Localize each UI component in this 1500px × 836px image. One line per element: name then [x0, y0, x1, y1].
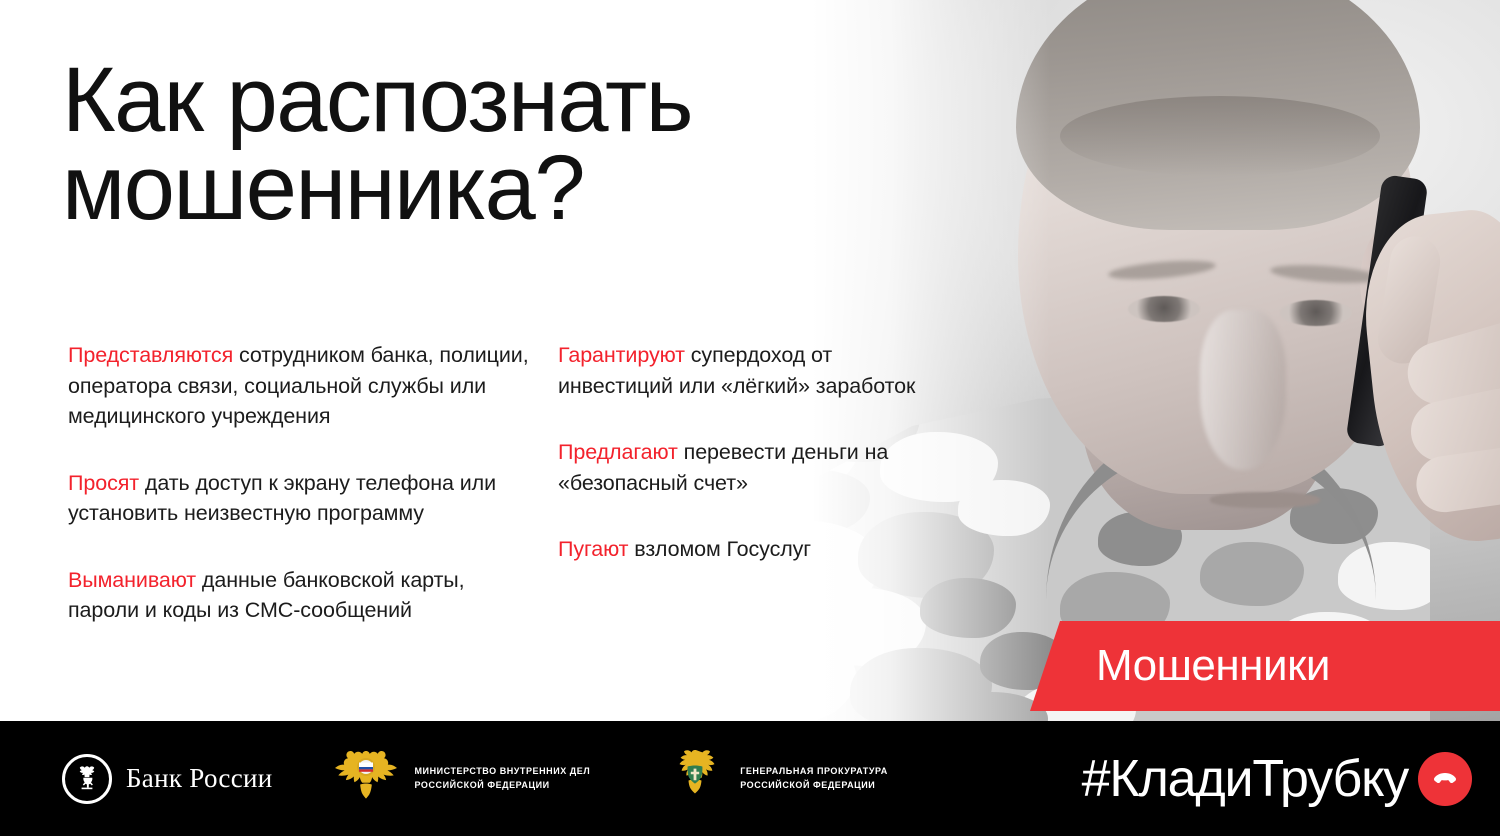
status-badge: Мошенники — [1018, 621, 1500, 711]
double-headed-eagle-circle-icon — [62, 754, 112, 804]
logo-label-mvd: МИНИСТЕРСТВО ВНУТРЕННИХ ДЕЛРОССИЙСКОЙ ФЕ… — [415, 765, 591, 792]
bullet-keyword: Представляются — [68, 343, 233, 367]
list-item: Пугают взломом Госуслуг — [558, 534, 948, 565]
logo-label-general-prosecutor: ГЕНЕРАЛЬНАЯ ПРОКУРАТУРАРОССИЙСКОЙ ФЕДЕРА… — [740, 765, 888, 792]
list-item: Гарантируют супердоход от инвестиций или… — [558, 340, 948, 401]
eye-right — [1280, 300, 1352, 326]
mouth — [1210, 492, 1320, 508]
list-item: Просят дать доступ к экрану телефона или… — [68, 468, 538, 529]
campaign-hashtag: #КладиТрубку — [1082, 752, 1472, 806]
hangup-phone-icon — [1418, 752, 1472, 806]
hashtag-label: #КладиТрубку — [1082, 753, 1408, 805]
scam-signs-left-column: Представляются сотрудником банка, полици… — [68, 340, 538, 626]
logo-bank-of-russia: Банк России — [62, 754, 273, 804]
page-title: Как распознать мошенника? — [62, 56, 962, 233]
bullet-text: взломом Госуслуг — [628, 537, 811, 561]
bullet-keyword: Гарантируют — [558, 343, 685, 367]
logo-general-prosecutor: ГЕНЕРАЛЬНАЯ ПРОКУРАТУРАРОССИЙСКОЙ ФЕДЕРА… — [662, 745, 888, 812]
banner-label: Мошенники — [1096, 644, 1330, 688]
poster-canvas: Как распознать мошенника? Представляются… — [0, 0, 1500, 836]
list-item: Предлагают перевести деньги на «безопасн… — [558, 437, 948, 498]
bullet-keyword: Выманивают — [68, 568, 196, 592]
list-item: Представляются сотрудником банка, полици… — [68, 340, 538, 432]
bullet-keyword: Пугают — [558, 537, 628, 561]
bullet-keyword: Просят — [68, 471, 139, 495]
mvd-eagle-emblem-icon — [329, 745, 403, 812]
list-item: Выманивают данные банковской карты, паро… — [68, 565, 538, 626]
footer-bar: Банк России МИНИСТЕРСТВО ВНУТРЕНН — [0, 721, 1500, 836]
prosecutor-eagle-shield-icon — [662, 745, 728, 812]
logo-label-bank-of-russia: Банк России — [126, 763, 273, 794]
logo-mvd: МИНИСТЕРСТВО ВНУТРЕННИХ ДЕЛРОССИЙСКОЙ ФЕ… — [329, 745, 591, 812]
nose — [1200, 310, 1286, 470]
bullet-keyword: Предлагают — [558, 440, 678, 464]
scam-signs-right-column: Гарантируют супердоход от инвестиций или… — [558, 340, 948, 565]
eye-left — [1128, 296, 1200, 322]
forehead-shadow — [1060, 96, 1380, 176]
